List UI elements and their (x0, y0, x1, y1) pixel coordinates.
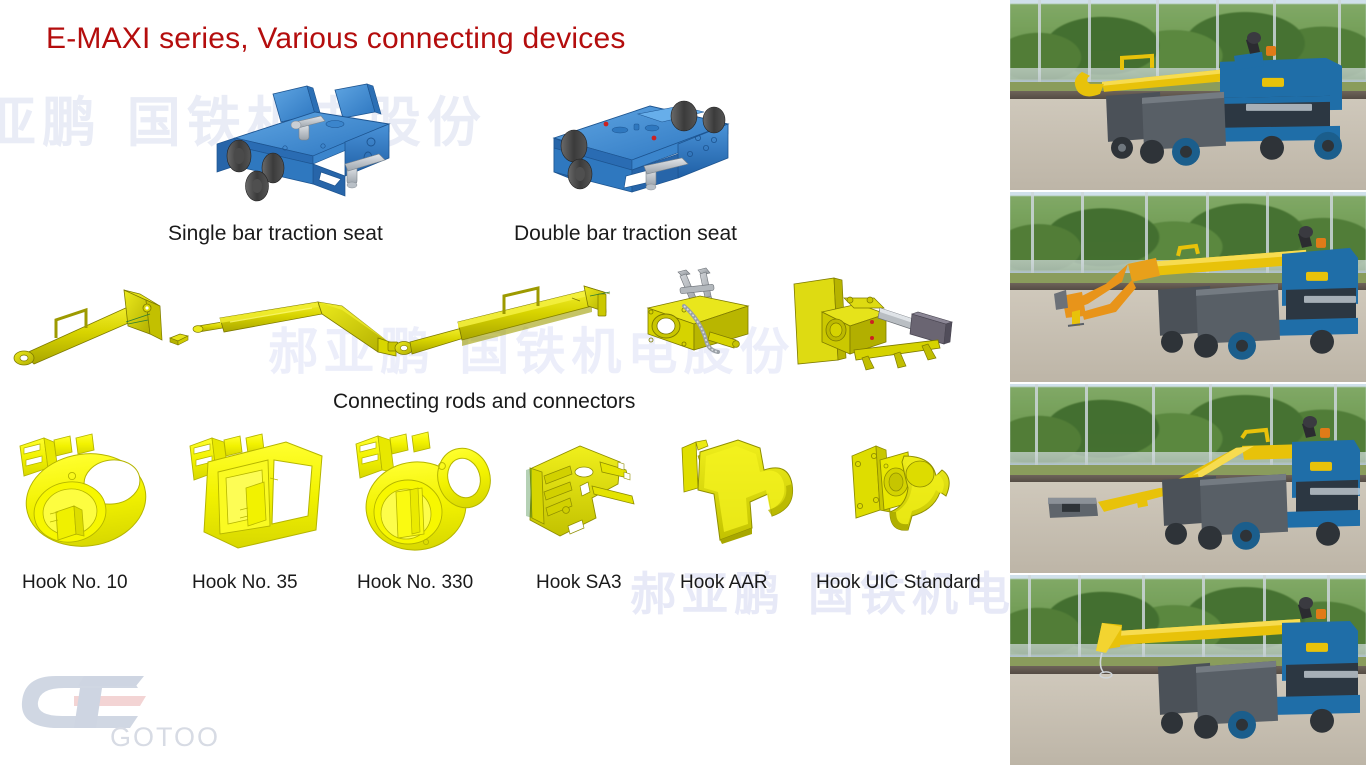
hook-no-10-model (14, 428, 154, 562)
label-hook-aar: Hook AAR (680, 572, 768, 594)
label-double-bar-traction-seat: Double bar traction seat (514, 222, 737, 246)
slide-title: E-MAXI series, Various connecting device… (46, 22, 626, 56)
label-hook-sa3: Hook SA3 (536, 572, 622, 594)
label-hook-no-10: Hook No. 10 (22, 572, 128, 594)
photo-shunting-vehicle-with-yellow-hook-arm (1010, 0, 1366, 190)
photo-shunting-vehicle-with-yellow-flared-arm (1010, 575, 1366, 765)
gotoo-wordmark: GOTOO (110, 722, 220, 753)
bent-connecting-rod-model (192, 288, 402, 368)
hook-no-330-model (352, 430, 494, 558)
photo-shunting-vehicle-with-orange-coupler-frame (1010, 192, 1366, 382)
double-bar-traction-seat-model (528, 92, 743, 212)
slide-canvas: 亚鹏 国铁机电股份 郝亚鹏 国铁机电股份 郝亚鹏 国铁机电股 E-MAXI se… (0, 0, 1366, 765)
hook-no-35-model (186, 432, 326, 558)
label-hook-no-35: Hook No. 35 (192, 572, 298, 594)
mounted-coupler-assembly-model (788, 268, 968, 378)
draw-bar-with-head-model (10, 278, 190, 370)
label-hook-uic-standard: Hook UIC Standard (816, 572, 981, 594)
label-hook-no-330: Hook No. 330 (357, 572, 473, 594)
single-bar-traction-seat-model (195, 80, 410, 210)
telescopic-connecting-rod-model (392, 278, 622, 368)
small-spacer-block-model (168, 330, 190, 348)
hook-uic-standard-model (846, 434, 970, 550)
hook-sa3-model (522, 440, 646, 544)
hook-aar-model (676, 432, 808, 544)
label-connecting-rods-and-connectors: Connecting rods and connectors (333, 390, 635, 414)
label-single-bar-traction-seat: Single bar traction seat (168, 222, 383, 246)
gotoo-logo: GOTOO (18, 672, 248, 754)
photo-shunting-vehicle-with-grey-coupler-head (1010, 384, 1366, 574)
coupler-adapter-block-model (640, 268, 780, 368)
photo-column (1010, 0, 1366, 765)
